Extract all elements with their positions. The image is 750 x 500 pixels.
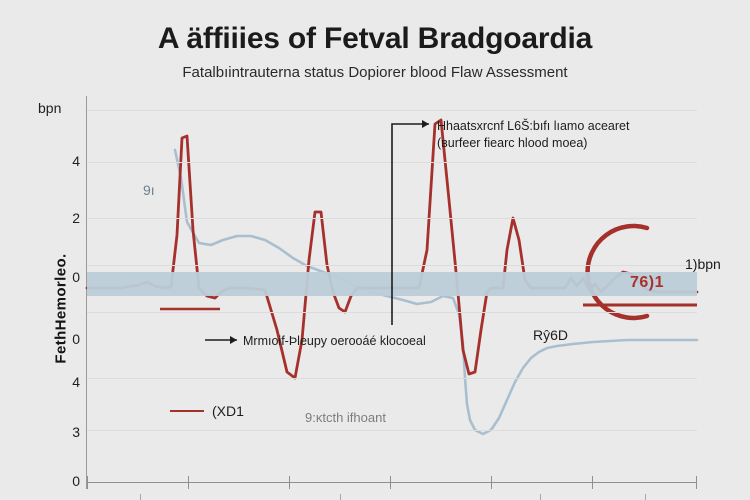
annotation-heart-rate-line1: Hhaatsxrcnf L6Š:bıfı lıamo acearet: [437, 118, 629, 135]
y-axis-tick-labels: 4 2 0 0 4 3 0: [40, 0, 80, 500]
x-axis-tick: [491, 476, 492, 489]
x-axis-tick: [592, 476, 593, 489]
annotation-heart-rate-line2: (ʙurfeer fiearc hlood moea): [437, 135, 629, 152]
annotation-heart-rate: Hhaatsxrcnf L6Š:bıfı lıamo acearet (ʙurf…: [437, 118, 629, 152]
x-axis-minor-tick: [340, 494, 341, 500]
y-tick-label: 4: [50, 375, 80, 389]
right-value-readout: 76)1: [630, 274, 664, 292]
y-tick-label: 3: [50, 425, 80, 439]
chart-legend: (XD1: [170, 403, 244, 419]
legend-secondary-label: 9:ĸtcth ifhoant: [305, 410, 386, 425]
y-tick-label: 2: [50, 211, 80, 225]
y-tick-label: 0: [50, 332, 80, 346]
x-axis-tick: [696, 476, 697, 489]
right-unit-label: 1)bpn: [685, 256, 721, 272]
blue-trace-label: Rŷ6D: [533, 327, 568, 343]
y-tick-label: 0: [50, 270, 80, 284]
annotation-normal-flow: Μrmıoif-Þleupy oerooáé klocoeal: [243, 333, 426, 350]
x-axis-tick: [188, 476, 189, 489]
page-subtitle: Fatalbıintrauterna status Dopiorer blood…: [0, 64, 750, 81]
x-axis-tick: [390, 476, 391, 489]
legend-series-label: (XD1: [212, 403, 244, 419]
y-tick-label: 0: [50, 474, 80, 488]
x-axis-minor-tick: [540, 494, 541, 500]
page-title: A äffiiies of Fetval Bradgoardia: [0, 22, 750, 56]
y-tick-label: 4: [50, 154, 80, 168]
x-axis-tick: [289, 476, 290, 489]
chart-screenshot: A äffiiies of Fetval Bradgoardia Fatalbı…: [0, 0, 750, 500]
x-axis-tick: [87, 476, 88, 489]
x-axis-minor-tick: [140, 494, 141, 500]
x-axis-line: [87, 482, 697, 483]
legend-color-swatch: [170, 410, 204, 413]
x-axis-minor-tick: [645, 494, 646, 500]
peak-marker-label: 9ı: [143, 182, 155, 198]
